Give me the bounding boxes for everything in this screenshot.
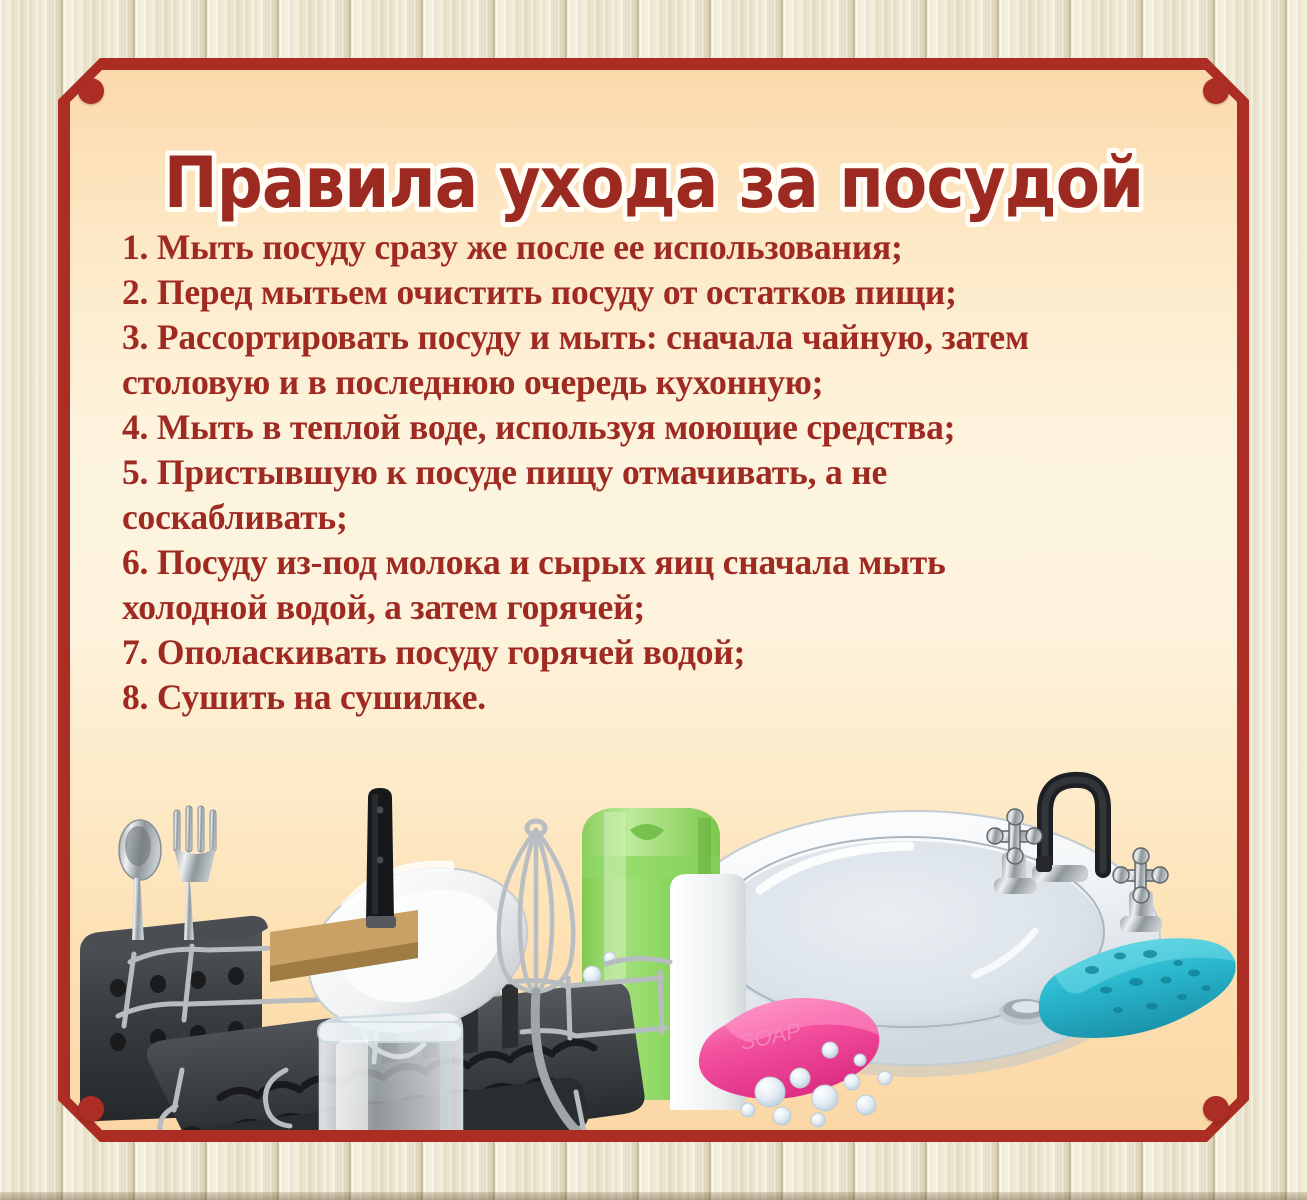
corner-dot-top-left <box>78 78 104 104</box>
rule-line-6: 5. Пристывшую к посуде пищу отмачивать, … <box>122 450 1222 495</box>
rule-line-5: 4. Мыть в теплой воде, используя моющие … <box>122 405 1222 450</box>
rule-line-3: 3. Рассортировать посуду и мыть: сначала… <box>122 315 1222 360</box>
white-plate <box>287 841 548 1059</box>
rule-line-4: столовую и в последнюю очередь кухонную; <box>122 360 1222 405</box>
rule-line-10: 7. Ополаскивать посуду горячей водой; <box>122 630 1222 675</box>
chrome-faucet <box>1032 780 1103 882</box>
tap-handle-left <box>987 809 1042 894</box>
poster-root: Правила ухода за посудой 1. Мыть посуду … <box>0 0 1307 1200</box>
cleaning-sponge <box>1039 938 1236 1038</box>
rules-list: 1. Мыть посуду сразу же после ее использ… <box>122 225 1222 720</box>
kitchen-knife <box>366 788 396 928</box>
rule-line-7: соскабливать; <box>122 495 1222 540</box>
page-title: Правила ухода за посудой <box>117 147 1191 221</box>
glass-jar <box>265 1012 462 1130</box>
rule-line-2: 2. Перед мытьем очистить посуду от остат… <box>122 270 1222 315</box>
dish-drying-rack <box>80 916 670 1130</box>
rule-line-11: 8. Сушить на сушилке. <box>122 675 1222 720</box>
soap-label: SOAP <box>738 1018 803 1055</box>
rule-line-9: холодной водой, а затем горячей; <box>122 585 1222 630</box>
corner-dot-bottom-right <box>1203 1096 1229 1122</box>
tap-handle-right <box>1113 848 1168 932</box>
wire-whisk <box>499 821 580 1130</box>
rule-line-8: 6. Посуду из-под молока и сырых яиц снач… <box>122 540 1222 585</box>
bathroom-sink <box>670 811 1160 1077</box>
bordered-panel: Правила ухода за посудой 1. Мыть посуду … <box>58 58 1249 1142</box>
green-detergent-bottle <box>582 808 720 1100</box>
pink-cup <box>406 913 496 1048</box>
soap-bubbles <box>574 952 892 1127</box>
panel-content-area: Правила ухода за посудой 1. Мыть посуду … <box>70 70 1237 1130</box>
wooden-board <box>270 910 418 982</box>
soap-bar: SOAP <box>699 998 879 1099</box>
fork-utensil <box>174 806 216 940</box>
white-board <box>670 874 746 1110</box>
rule-line-1: 1. Мыть посуду сразу же после ее использ… <box>122 225 1222 270</box>
sink-drain <box>999 999 1051 1025</box>
spoon-utensil <box>119 820 161 940</box>
corner-dot-top-right <box>1203 78 1229 104</box>
corner-dot-bottom-left <box>78 1096 104 1122</box>
